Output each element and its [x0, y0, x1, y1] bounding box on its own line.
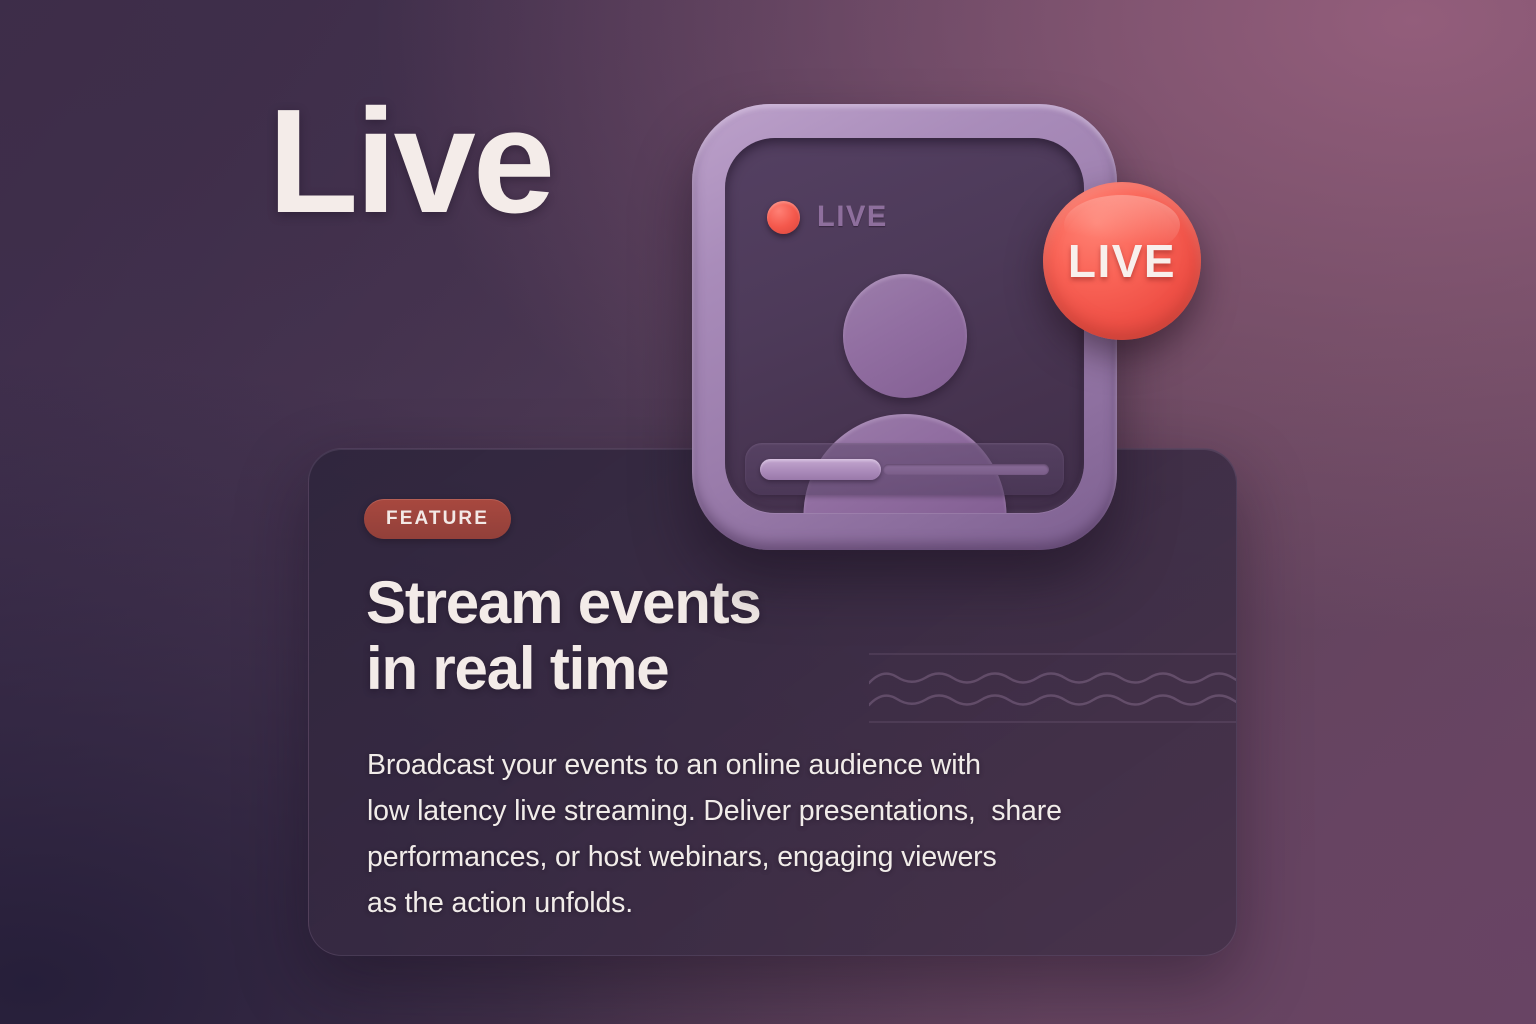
live-indicator-label: LIVE: [817, 203, 888, 232]
body-line-1: Broadcast your events to an online audie…: [367, 742, 1197, 788]
progress-fill: [760, 459, 881, 480]
video-screen: LIVE: [725, 138, 1084, 513]
hero-canvas: Live FEATURE Stream events in real time …: [0, 0, 1536, 1024]
body-line-2: low latency live streaming. Deliver pres…: [367, 788, 1197, 834]
live-stream-illustration: LIVE LIVE: [692, 104, 1137, 559]
live-badge: LIVE: [1043, 182, 1201, 340]
headline-line-2: in real time: [366, 636, 926, 702]
live-badge-label: LIVE: [1068, 238, 1176, 284]
avatar-head-icon: [843, 274, 967, 398]
headline: Stream events in real time: [366, 570, 926, 702]
live-indicator: LIVE: [767, 201, 888, 234]
page-title: Live: [268, 88, 552, 236]
record-dot-icon: [767, 201, 800, 234]
body-line-4: as the action unfolds.: [367, 880, 1197, 926]
body-line-3: performances, or host webinars, engaging…: [367, 834, 1197, 880]
progress-track: [883, 464, 1049, 475]
status-badge: FEATURE: [364, 499, 511, 539]
device-frame-icon: LIVE: [692, 104, 1117, 550]
headline-line-1: Stream events: [366, 570, 926, 636]
playback-progress-bar[interactable]: [745, 443, 1064, 495]
body-copy: Broadcast your events to an online audie…: [367, 742, 1197, 927]
